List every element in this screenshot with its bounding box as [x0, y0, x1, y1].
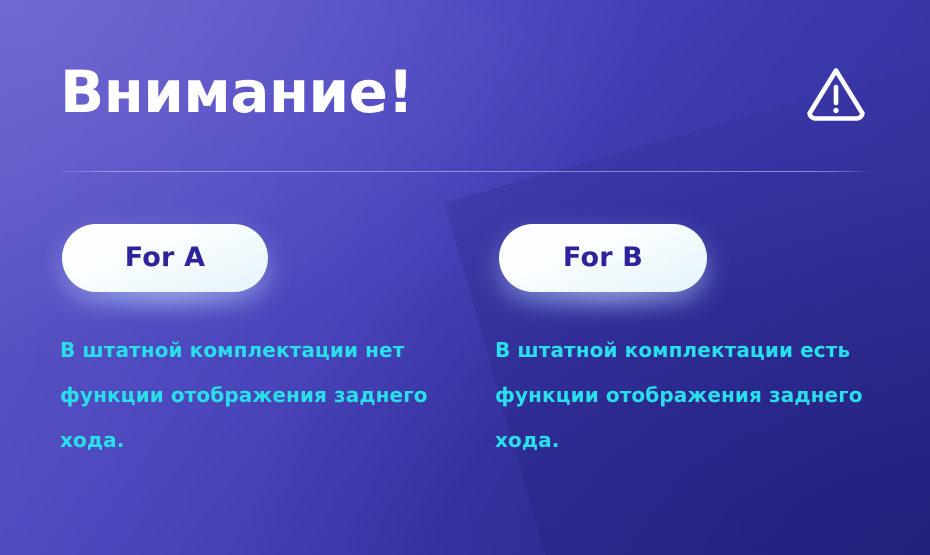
column-b-description: В штатной комплектации есть функции отоб… [495, 328, 887, 463]
warning-slide: Внимание! For A В штатной комплектации н… [0, 0, 930, 555]
for-b-button[interactable]: For B [499, 224, 707, 292]
column-b-button-area: For B [495, 212, 915, 312]
column-b: For B В штатной комплектации есть функци… [495, 212, 915, 312]
header-divider [60, 171, 870, 172]
warning-triangle-icon [802, 60, 870, 128]
column-a: For A В штатной комплектации нет функции… [60, 212, 480, 312]
slide-header: Внимание! [60, 52, 870, 144]
for-a-button[interactable]: For A [62, 224, 268, 292]
column-a-button-area: For A [60, 212, 480, 312]
column-a-description: В штатной комплектации нет функции отобр… [60, 328, 455, 463]
comparison-columns: For A В штатной комплектации нет функции… [0, 212, 930, 492]
page-title: Внимание! [60, 52, 413, 132]
